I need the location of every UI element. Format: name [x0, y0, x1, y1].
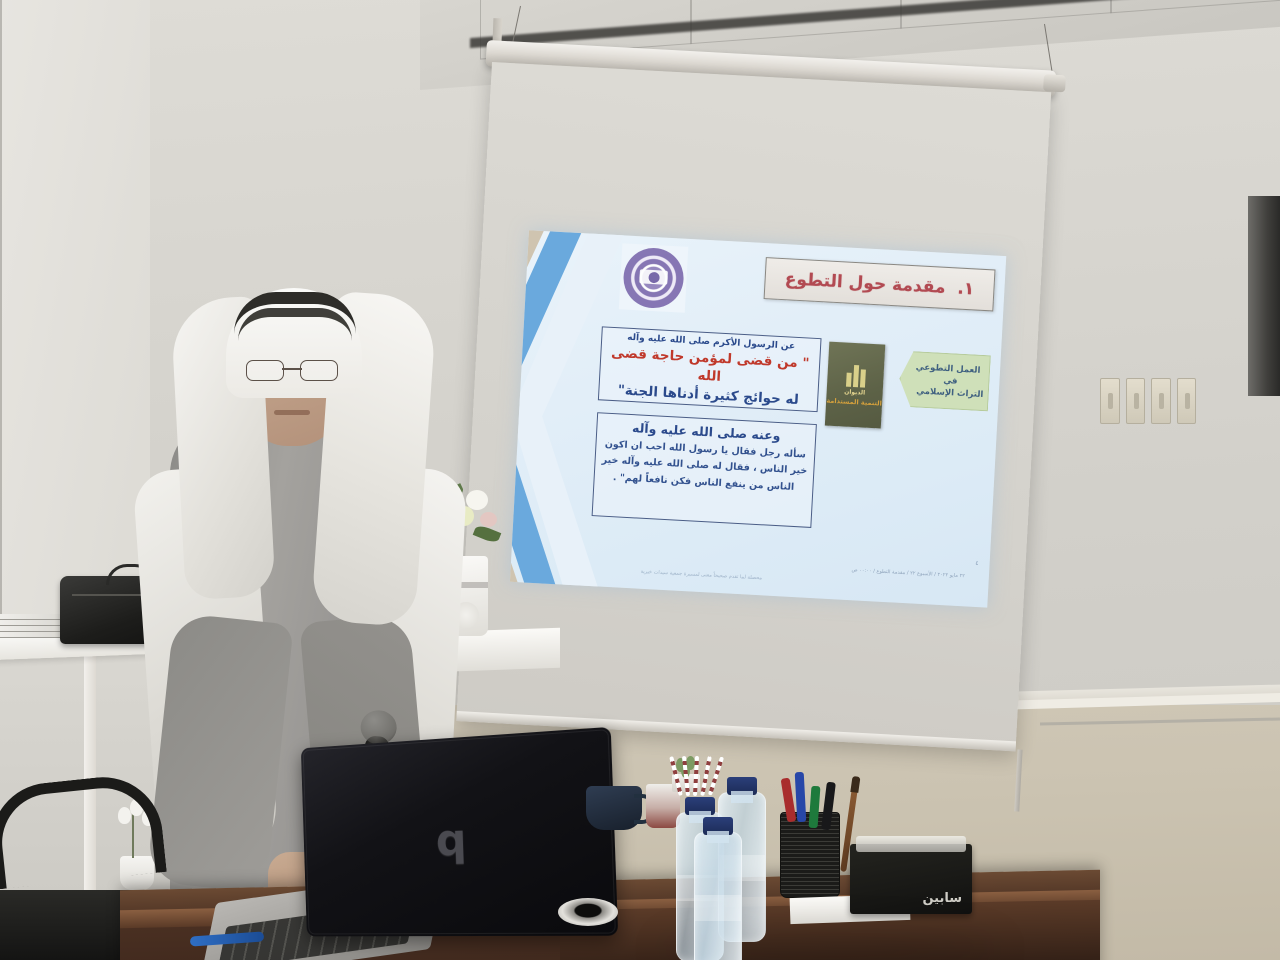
light-switch-plate[interactable]	[1151, 378, 1171, 424]
university-seal-logo	[619, 243, 688, 312]
light-switch-plate[interactable]	[1126, 378, 1146, 424]
bottle-neck	[731, 791, 753, 803]
compaq-laptop[interactable]: q	[196, 738, 608, 960]
hadith-box-2: وعنه صلى الله عليه وآله سأله رجل فقال يا…	[592, 412, 817, 528]
slide-title-text: ١. مقدمة حول التطوع	[784, 269, 974, 299]
book-caption-bottom: التنمية المستدامة	[826, 396, 882, 407]
slide-footnote: محصلة لما تقدم صحيحاً معنى لمسيرة جمعية …	[640, 569, 762, 582]
bottle-label	[695, 895, 741, 921]
book-cover-thumbnail: الديوان التنمية المستدامة	[825, 342, 885, 429]
hadith-box-1: عن الرسول الأكرم صلى الله عليه وآله " من…	[598, 326, 822, 412]
paper-straw-bundle[interactable]	[670, 752, 728, 796]
light-switch-group[interactable]	[1100, 378, 1196, 424]
room-scene: ١. مقدمة حول التطوع عن الرسول الأكرم صلى…	[0, 0, 1280, 960]
flower-leaf	[473, 524, 502, 545]
bottle-neck	[707, 831, 729, 843]
light-switch-plate[interactable]	[1100, 378, 1120, 424]
tissue-sheet	[856, 836, 966, 852]
compaq-logo: q	[435, 818, 467, 863]
ceramic-mug[interactable]	[586, 786, 642, 830]
projected-slide: ١. مقدمة حول التطوع عن الرسول الأكرم صلى…	[510, 230, 1006, 607]
eyeglasses	[244, 360, 340, 380]
slide-title-box: ١. مقدمة حول التطوع	[764, 257, 996, 311]
slide-page-number: ٤	[975, 560, 979, 567]
tissue-box-label: سابين	[922, 891, 962, 906]
igal-headband-second-coil	[238, 308, 352, 341]
water-bottle[interactable]	[694, 832, 742, 960]
wall-mounted-display-edge	[1248, 196, 1280, 396]
tissue-box[interactable]: سابين	[850, 844, 972, 914]
book-caption-top: الديوان	[844, 388, 865, 396]
presenter-mouth	[274, 410, 310, 415]
callout-arrow-label: العمل التطوعي فيالتراث الإسلامي	[899, 360, 989, 402]
flower-bloom	[466, 490, 488, 510]
flower-bloom	[480, 512, 497, 527]
chair-armrest	[0, 771, 167, 889]
desk-cable-grommet	[558, 898, 618, 926]
callout-arrow-shape: العمل التطوعي فيالتراث الإسلامي	[898, 351, 991, 412]
screen-housing-cap	[1043, 74, 1066, 92]
light-switch-plate[interactable]	[1177, 378, 1197, 424]
slide-meta-block: ٢٢ مايو ٢٠٢٢ / الأسبوع ٢٢ / مقدمة التطوع…	[851, 567, 965, 581]
book-cover-bars	[845, 364, 865, 387]
